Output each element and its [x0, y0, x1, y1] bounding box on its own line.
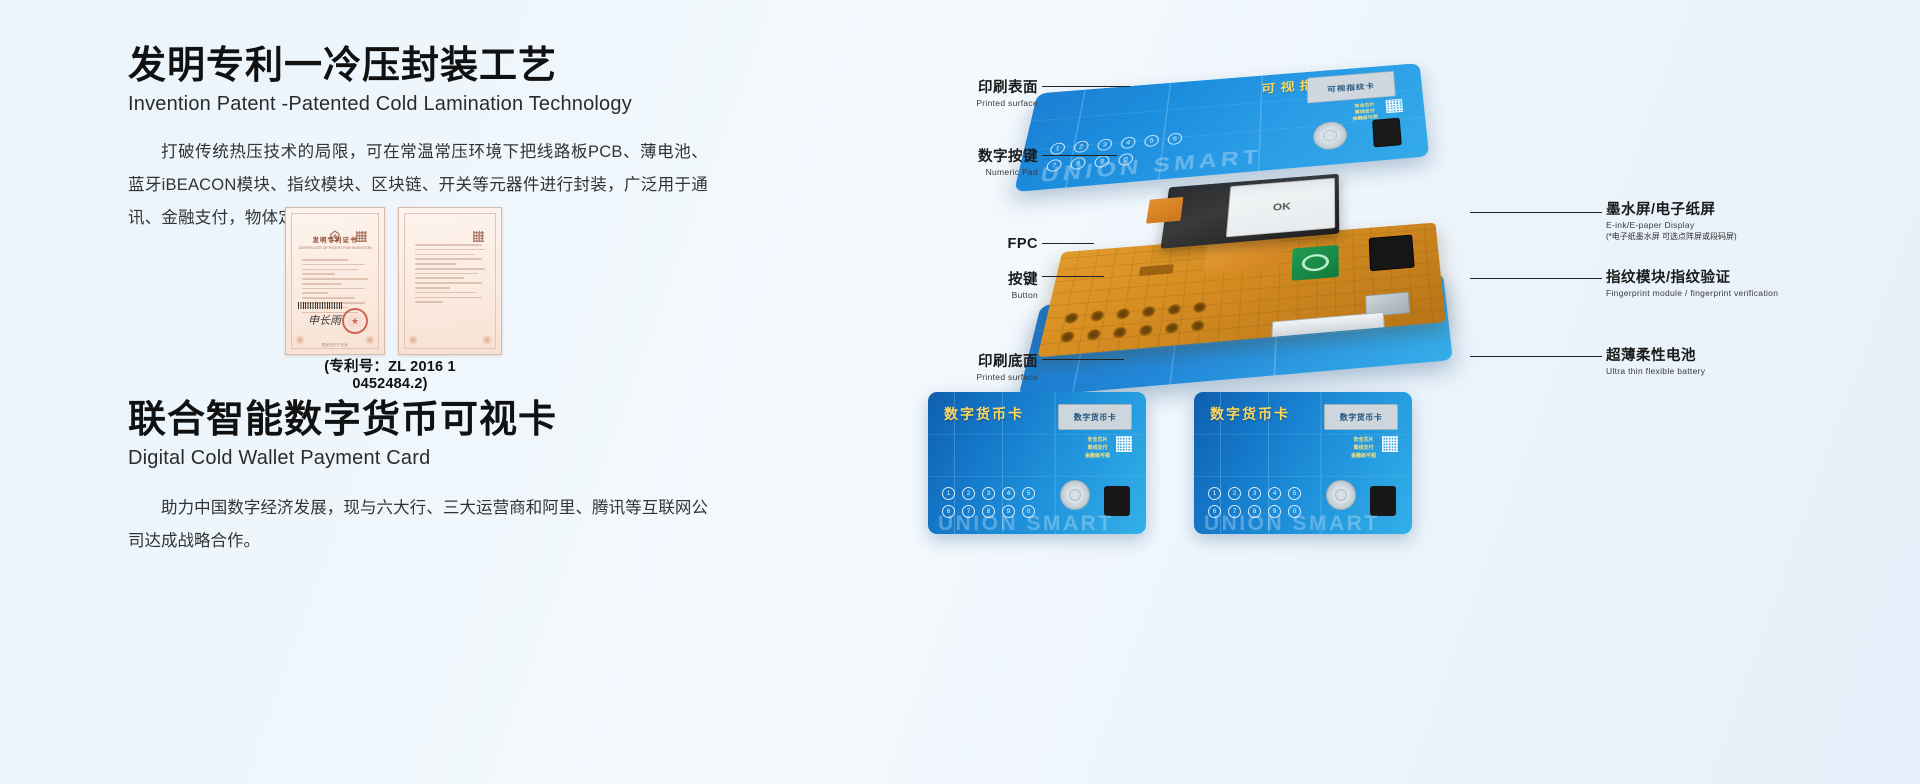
pcb-pad	[1138, 324, 1153, 336]
keypad-key: 1	[1208, 487, 1221, 500]
label-printed-bottom: 印刷底面 Printed surface	[916, 350, 1038, 382]
section-two-heading-en: Digital Cold Wallet Payment Card	[128, 447, 708, 470]
keypad-key: 3	[1097, 138, 1113, 151]
leader-line	[1042, 155, 1117, 156]
fingerprint-sensor-chip	[1292, 245, 1339, 281]
leader-line	[1470, 212, 1602, 213]
product-card-gallery: 数字货币卡 数字货币卡 安全芯片离线支付金融级可视 12 34 5 67 89 …	[928, 392, 1412, 534]
label-numeric-pad: 数字按键 Numeric Pad	[928, 145, 1038, 177]
certificate-qr-icon	[473, 231, 484, 242]
keypad-key: 1	[1049, 142, 1066, 155]
label-button: 按键 Button	[952, 268, 1038, 300]
label-en: Button	[952, 290, 1038, 300]
keypad-key: 3	[982, 487, 995, 500]
certificate-image-2	[398, 207, 502, 355]
leader-line	[1042, 359, 1124, 360]
pcb-pad	[1115, 308, 1130, 320]
label-cn: 墨水屏/电子纸屏	[1606, 198, 1737, 219]
keypad-key: 5	[1288, 487, 1301, 500]
product-card-1: 数字货币卡 数字货币卡 安全芯片离线支付金融级可视 12 34 5 67 89 …	[928, 392, 1146, 534]
product-card-screen: 数字货币卡	[1058, 404, 1132, 430]
leader-line	[1042, 86, 1130, 87]
label-cn: 指纹模块/指纹验证	[1606, 266, 1778, 287]
product-card-brand: 数字货币卡	[1210, 404, 1290, 424]
label-cn: 数字按键	[928, 145, 1038, 166]
eink-fpc-tail	[1146, 197, 1183, 224]
product-card-qr-icon	[1382, 436, 1398, 452]
product-card-keypad-row1: 12 34 5	[942, 487, 1035, 500]
keypad-key: 6	[1167, 133, 1182, 146]
section-two-text-block: 联合智能数字货币可视卡 Digital Cold Wallet Payment …	[128, 398, 708, 558]
keypad-key: 4	[1002, 487, 1015, 500]
label-cn: 印刷表面	[928, 76, 1038, 97]
section-two-heading-cn: 联合智能数字货币可视卡	[128, 398, 708, 443]
certificate-text-lines	[409, 244, 491, 303]
label-cn: 印刷底面	[916, 350, 1038, 371]
pcb-pad	[1064, 312, 1080, 324]
card-top-shell: 可视指纹卡 可视指纹卡 安全芯片离线支付金融级可视 12 34 56 78 90…	[1014, 63, 1429, 192]
label-en: E-ink/E-paper Display	[1606, 220, 1737, 230]
pcb-pad	[1167, 304, 1182, 316]
product-card-qr-icon	[1116, 436, 1132, 452]
label-cn: 超薄柔性电池	[1606, 344, 1705, 365]
label-en: Fingerprint module / fingerprint verific…	[1606, 288, 1778, 298]
patent-number-label: (专利号：ZL 2016 1 0452484.2)	[285, 355, 495, 392]
label-fpc: FPC	[960, 236, 1038, 253]
product-card-brand: 数字货币卡	[944, 404, 1024, 424]
label-flexible-battery: 超薄柔性电池 Ultra thin flexible battery	[1606, 344, 1705, 376]
product-card-bullets: 安全芯片离线支付金融级可视	[1085, 436, 1110, 460]
keypad-key: 2	[1073, 140, 1090, 153]
product-card-dial	[1326, 480, 1356, 510]
certificate-corner-ornament	[481, 334, 493, 346]
pcb-pad	[1193, 301, 1207, 313]
label-fingerprint-module: 指纹模块/指纹验证 Fingerprint module / fingerpri…	[1606, 266, 1778, 298]
product-card-union-text: UNION SMART	[1204, 512, 1380, 534]
exploded-card-diagram: OK 可视指纹卡 可视指纹卡 安全芯片离线支付金融级可视 12 34 56 78…	[900, 40, 1910, 390]
patent-office-logo-icon	[329, 230, 342, 243]
leader-line	[1042, 243, 1094, 244]
certificate-official-seal-icon	[342, 308, 368, 334]
keypad-key: 1	[942, 487, 955, 500]
product-card-2: 数字货币卡 数字货币卡 安全芯片离线支付金融级可视 12 34 5 67 89 …	[1194, 392, 1412, 534]
pcb-pad	[1112, 326, 1127, 338]
section-one-heading-cn: 发明专利一冷压封装工艺	[128, 44, 708, 89]
product-card-bullets: 安全芯片离线支付金融级可视	[1351, 436, 1376, 460]
pcb-pad	[1164, 322, 1179, 334]
certificate-signature: 申长雨	[308, 312, 341, 328]
certificate-barcode	[298, 302, 342, 309]
fingerprint-reader-pad	[1372, 118, 1402, 148]
label-en: Numeric Pad	[928, 167, 1038, 177]
keypad-key: 5	[1144, 134, 1160, 147]
pcb-pad	[1141, 306, 1156, 318]
label-cn: 按键	[952, 268, 1038, 289]
label-cn: FPC	[960, 236, 1038, 252]
leader-line	[1470, 278, 1602, 279]
label-eink-display: 墨水屏/电子纸屏 E-ink/E-paper Display (*电子纸墨水屏 …	[1606, 198, 1737, 242]
product-card-union-text: UNION SMART	[938, 512, 1114, 534]
pcb-pad	[1190, 320, 1205, 332]
pcb-pad	[1086, 329, 1102, 341]
certificate-corner-ornament	[407, 334, 419, 346]
keypad-key: 4	[1120, 136, 1136, 149]
certificate-qr-icon	[356, 231, 367, 242]
certificate-footer: 国家知识产权局	[286, 342, 384, 347]
label-en: Printed surface	[928, 98, 1038, 108]
section-one-heading-en: Invention Patent -Patented Cold Laminati…	[128, 93, 708, 116]
label-en: Printed surface	[916, 372, 1038, 382]
section-two-paragraph: 助力中国数字经济发展，现与六大行、三大运营商和阿里、腾讯等互联网公司达成战略合作…	[128, 492, 708, 558]
keypad-key: 4	[1268, 487, 1281, 500]
pcb-pad	[1059, 331, 1075, 343]
certificate-image-1: 发明专利证书 CERTIFICATE OF PATENT FOR INVENTI…	[285, 207, 385, 355]
keypad-key: 3	[1248, 487, 1261, 500]
card-qr-icon	[1386, 99, 1403, 113]
eink-screen: OK	[1226, 178, 1335, 238]
leader-line	[1042, 276, 1104, 277]
product-card-screen: 数字货币卡	[1324, 404, 1398, 430]
pcb-board	[1037, 223, 1445, 358]
leader-line	[1470, 356, 1602, 357]
label-en: Ultra thin flexible battery	[1606, 366, 1705, 376]
product-card-keypad-row1: 12 34 5	[1208, 487, 1301, 500]
patent-certificate-images: 发明专利证书 CERTIFICATE OF PATENT FOR INVENTI…	[285, 207, 502, 355]
pcb-pad	[1090, 310, 1106, 322]
product-feature-page: 发明专利一冷压封装工艺 Invention Patent -Patented C…	[0, 0, 1920, 784]
label-printed-surface: 印刷表面 Printed surface	[928, 76, 1038, 108]
secure-element-chip	[1369, 235, 1415, 272]
label-note: (*电子纸墨水屏 可选点阵屏或段码屏)	[1606, 231, 1737, 242]
keypad-key: 2	[962, 487, 975, 500]
certificate-subtitle: CERTIFICATE OF PATENT FOR INVENTION	[296, 246, 374, 250]
keypad-key: 5	[1022, 487, 1035, 500]
product-card-dial	[1060, 480, 1090, 510]
keypad-key: 2	[1228, 487, 1241, 500]
